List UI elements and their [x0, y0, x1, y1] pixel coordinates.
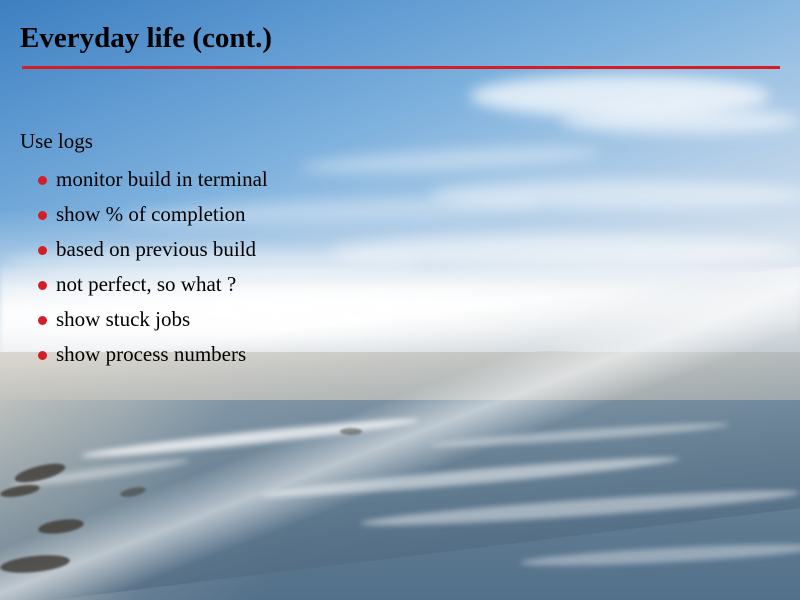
bullet-dot-icon [38, 211, 47, 220]
list-item: monitor build in terminal [38, 162, 720, 197]
list-item-label: show process numbers [56, 342, 246, 366]
list-item: show stuck jobs [38, 302, 720, 337]
bullet-dot-icon [38, 176, 47, 185]
slide-body: Use logs monitor build in terminal show … [20, 128, 720, 372]
list-item: based on previous build [38, 232, 720, 267]
list-item-label: based on previous build [56, 237, 256, 261]
list-item-label: not perfect, so what ? [56, 272, 236, 296]
bullet-dot-icon [38, 316, 47, 325]
slide-title: Everyday life (cont.) [20, 22, 272, 55]
bullet-dot-icon [38, 351, 47, 360]
list-item: show % of completion [38, 197, 720, 232]
presentation-slide: Everyday life (cont.) Use logs monitor b… [0, 0, 800, 600]
bullet-list: monitor build in terminal show % of comp… [20, 162, 720, 372]
list-item: not perfect, so what ? [38, 267, 720, 302]
bullet-dot-icon [38, 281, 47, 290]
list-item-label: show % of completion [56, 202, 246, 226]
bullet-dot-icon [38, 246, 47, 255]
list-item: show process numbers [38, 337, 720, 372]
list-item-label: monitor build in terminal [56, 167, 268, 191]
lead-text: Use logs [20, 128, 720, 154]
list-item-label: show stuck jobs [56, 307, 190, 331]
seaweed-clump [340, 428, 362, 435]
title-underline-rule [22, 66, 780, 69]
